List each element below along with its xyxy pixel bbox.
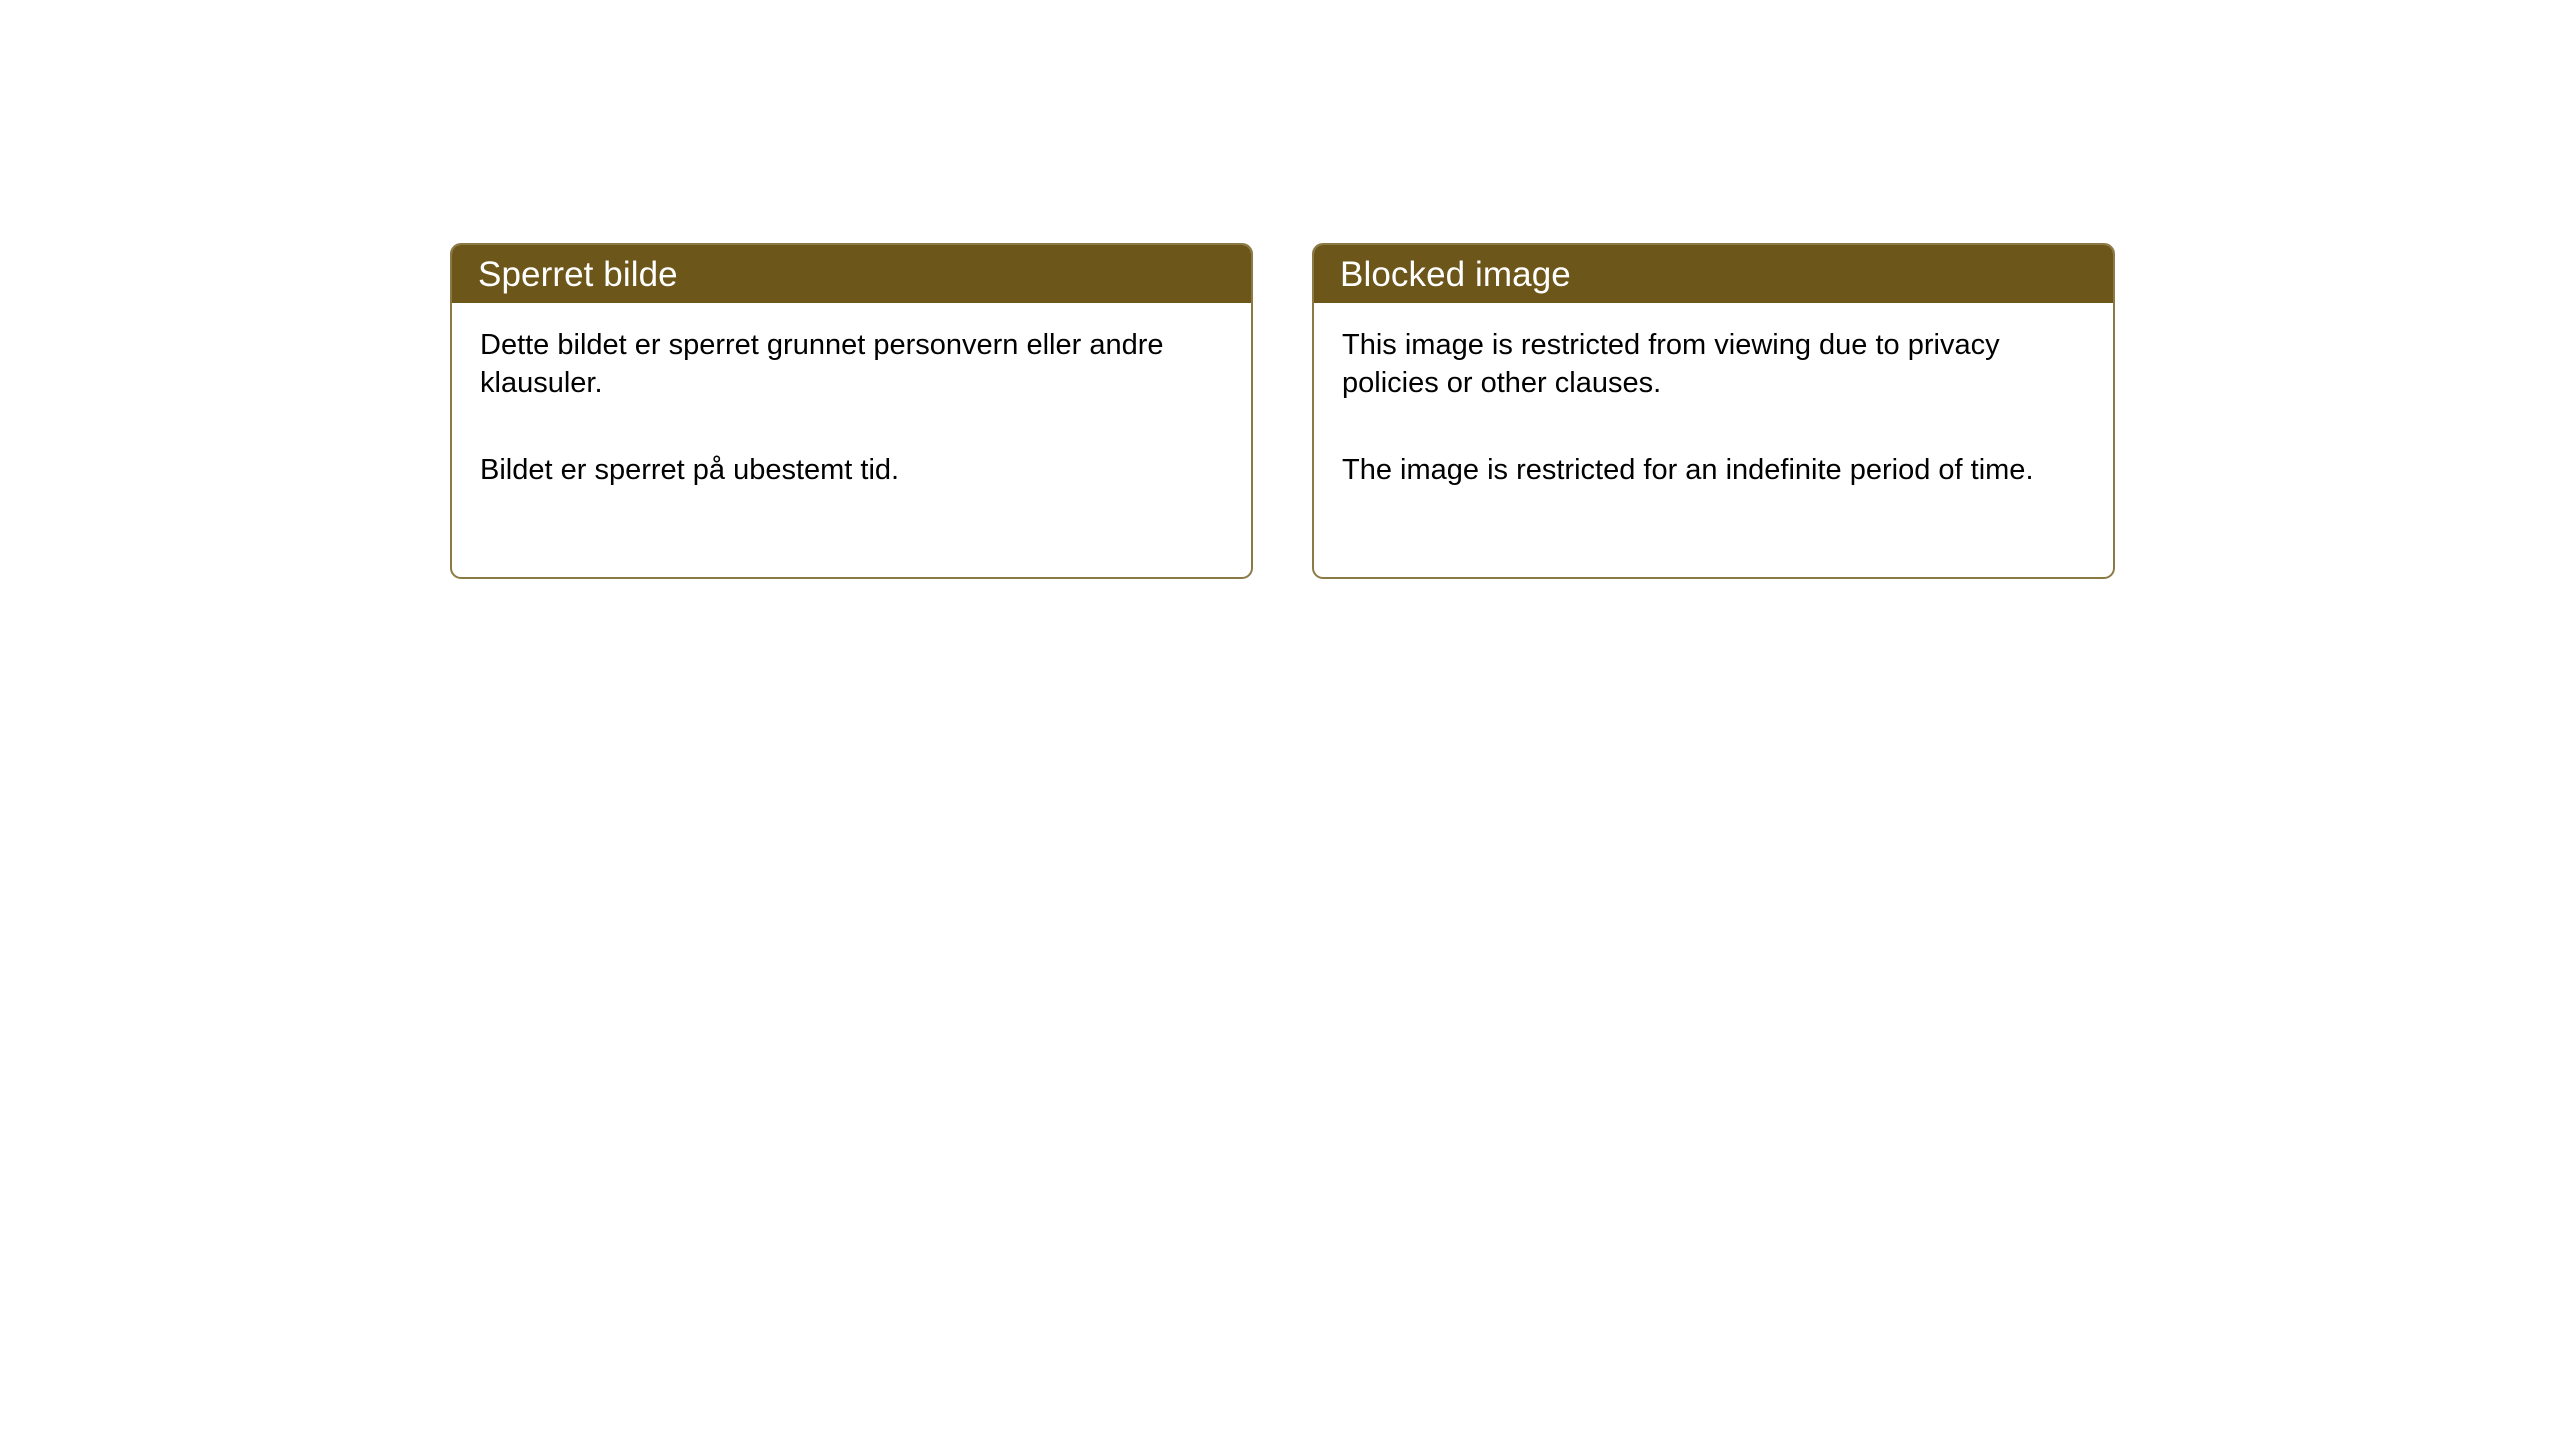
card-header-english: Blocked image bbox=[1314, 245, 2113, 303]
blocked-image-notice-card-norwegian: Sperret bilde Dette bildet er sperret gr… bbox=[450, 243, 1253, 579]
card-header-norwegian: Sperret bilde bbox=[452, 245, 1251, 303]
page-canvas: Sperret bilde Dette bildet er sperret gr… bbox=[0, 0, 2560, 1440]
notice-paragraph-duration-norwegian: Bildet er sperret på ubestemt tid. bbox=[480, 452, 1200, 490]
blocked-image-notice-card-english: Blocked image This image is restricted f… bbox=[1312, 243, 2115, 579]
notice-paragraph-reason-english: This image is restricted from viewing du… bbox=[1342, 327, 2062, 402]
card-body-norwegian: Dette bildet er sperret grunnet personve… bbox=[452, 303, 1251, 490]
card-body-english: This image is restricted from viewing du… bbox=[1314, 303, 2113, 490]
card-title-english: Blocked image bbox=[1340, 257, 1571, 292]
notice-paragraph-reason-norwegian: Dette bildet er sperret grunnet personve… bbox=[480, 327, 1200, 402]
notice-paragraph-duration-english: The image is restricted for an indefinit… bbox=[1342, 452, 2062, 490]
card-title-norwegian: Sperret bilde bbox=[478, 257, 678, 292]
